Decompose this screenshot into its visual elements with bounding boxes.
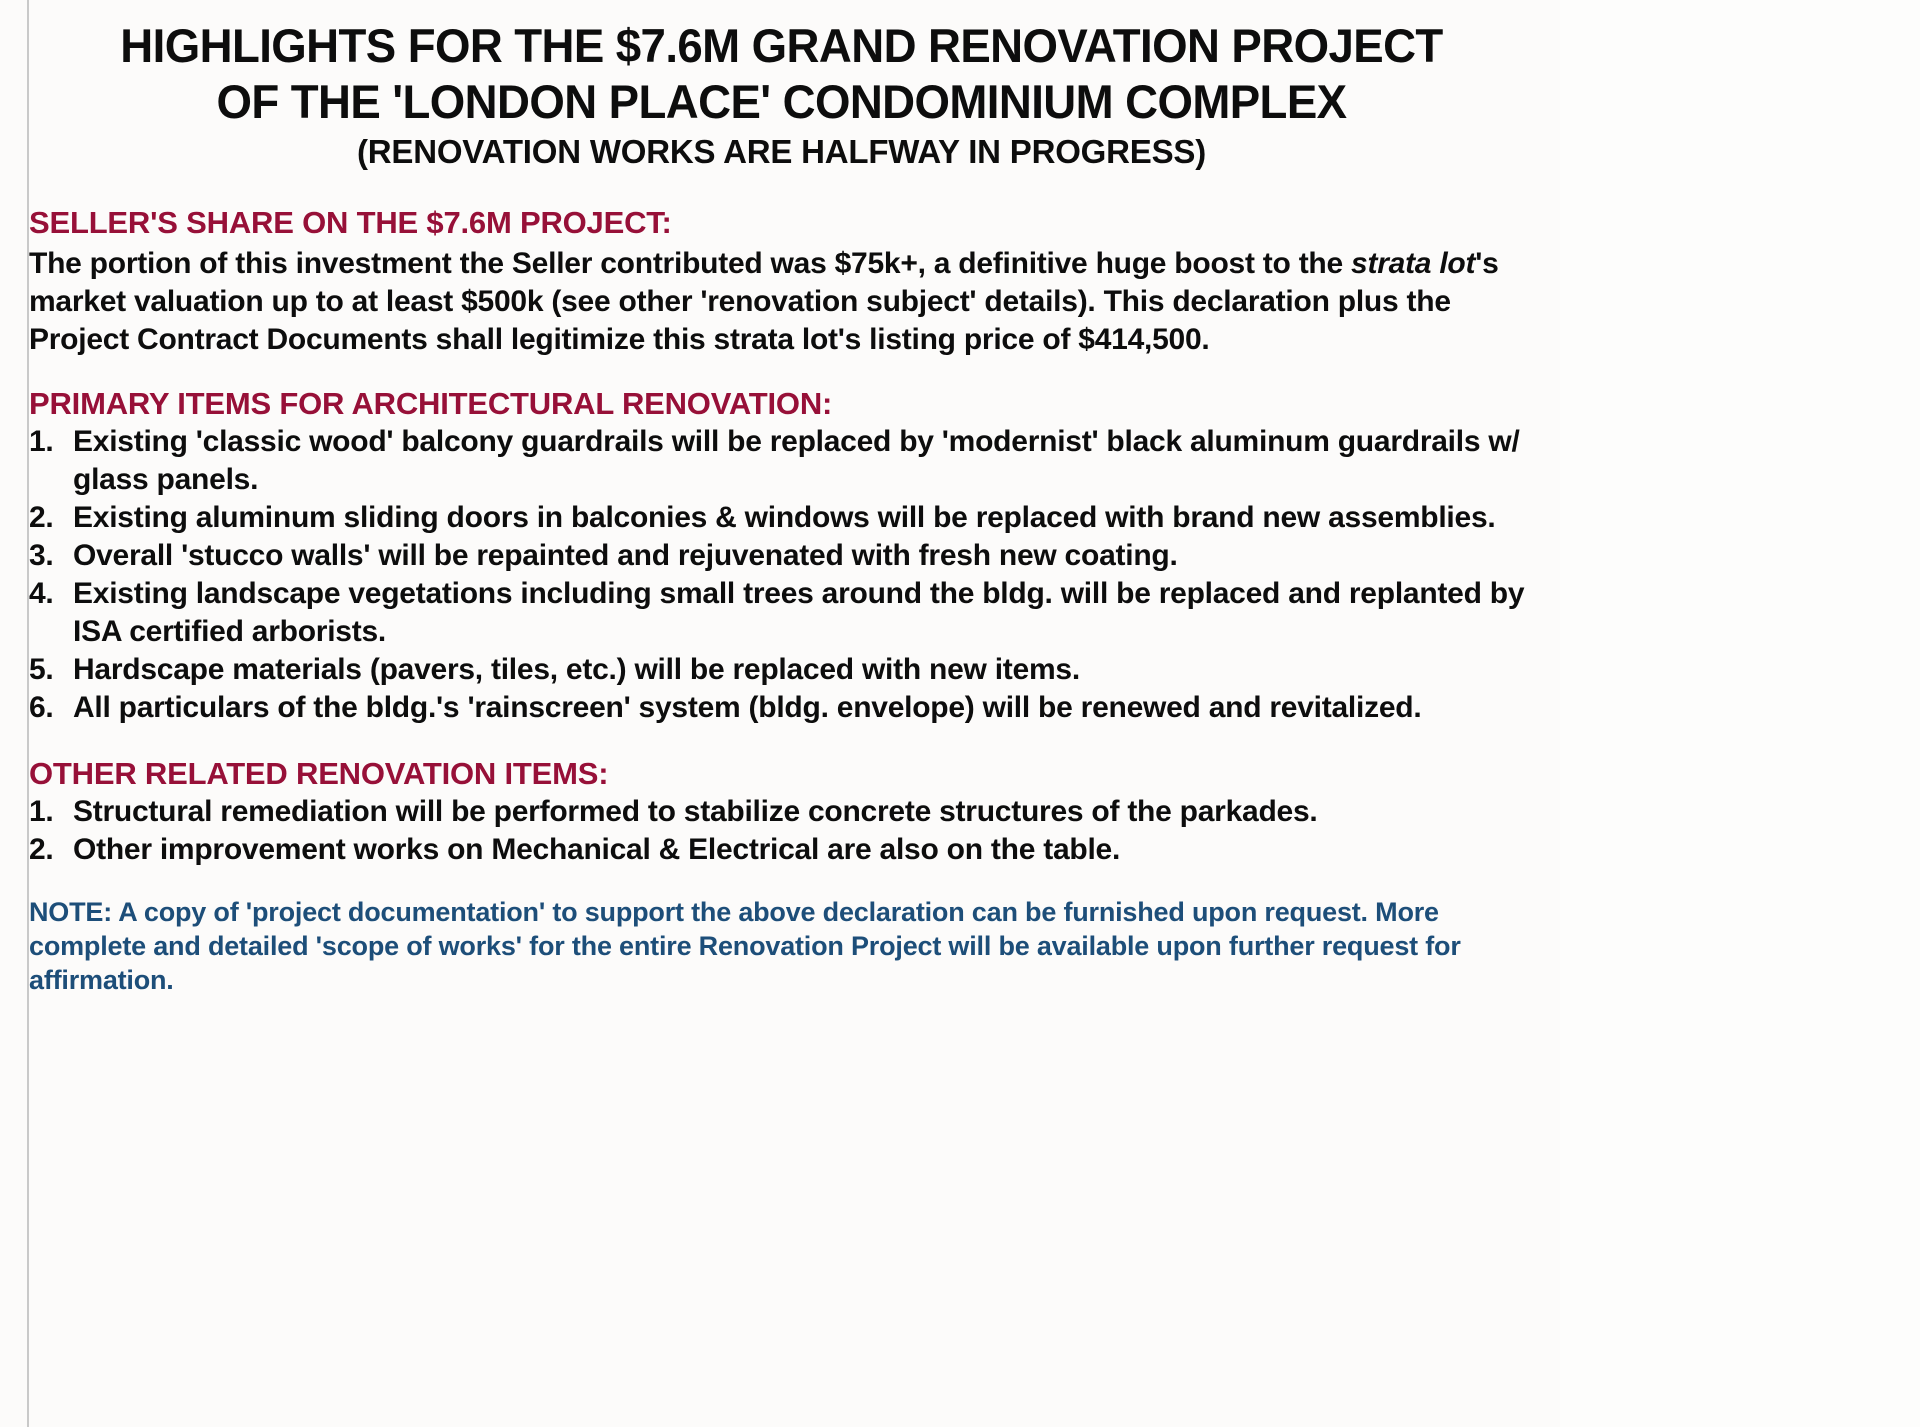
section-heading-primary-items: PRIMARY ITEMS FOR ARCHITECTURAL RENOVATI… xyxy=(29,385,1534,423)
list-item-text: Existing aluminum sliding doors in balco… xyxy=(73,501,1495,534)
list-item-number: 6. xyxy=(29,689,67,727)
list-item: 1.Existing 'classic wood' balcony guardr… xyxy=(29,423,1534,499)
list-item-number: 2. xyxy=(29,499,67,537)
list-item: 4.Existing landscape vegetations includi… xyxy=(29,575,1534,651)
list-item-text: Existing 'classic wood' balcony guardrai… xyxy=(73,425,1520,496)
list-item-number: 3. xyxy=(29,537,67,575)
page-title-line-1: HIGHLIGHTS FOR THE $7.6M GRAND RENOVATIO… xyxy=(52,18,1512,74)
list-item: 2.Existing aluminum sliding doors in bal… xyxy=(29,499,1534,537)
list-item-number: 4. xyxy=(29,575,67,613)
list-item: 3.Overall 'stucco walls' will be repaint… xyxy=(29,537,1534,575)
sellers-share-text-part1: The portion of this investment the Selle… xyxy=(29,247,1351,280)
primary-items-list: 1.Existing 'classic wood' balcony guardr… xyxy=(29,423,1534,727)
list-item-text: Structural remediation will be performed… xyxy=(73,795,1318,828)
list-item-text: Overall 'stucco walls' will be repainted… xyxy=(73,539,1178,572)
spacer xyxy=(29,174,1534,204)
list-item-text: All particulars of the bldg.'s 'rainscre… xyxy=(73,691,1421,724)
document-sheet: HIGHLIGHTS FOR THE $7.6M GRAND RENOVATIO… xyxy=(0,0,1560,1427)
other-items-list: 1.Structural remediation will be perform… xyxy=(29,793,1534,869)
list-item-number: 1. xyxy=(29,423,67,461)
list-item-text: Existing landscape vegetations including… xyxy=(73,577,1524,648)
list-item-number: 5. xyxy=(29,651,67,689)
list-item: 1.Structural remediation will be perform… xyxy=(29,793,1534,831)
page-title-line-2: OF THE 'LONDON PLACE' CONDOMINIUM COMPLE… xyxy=(52,74,1512,130)
footer-note: NOTE: A copy of 'project documentation' … xyxy=(29,895,1534,997)
sellers-share-paragraph: The portion of this investment the Selle… xyxy=(29,245,1534,359)
section-heading-other-items: OTHER RELATED RENOVATION ITEMS: xyxy=(29,755,1534,793)
list-item-number: 1. xyxy=(29,793,67,831)
document-content: HIGHLIGHTS FOR THE $7.6M GRAND RENOVATIO… xyxy=(29,0,1534,1427)
section-heading-sellers-share: SELLER'S SHARE ON THE $7.6M PROJECT: xyxy=(29,204,1534,242)
page-subtitle: (RENOVATION WORKS ARE HALFWAY IN PROGRES… xyxy=(29,130,1534,174)
list-item-number: 2. xyxy=(29,831,67,869)
list-item: 6.All particulars of the bldg.'s 'rainsc… xyxy=(29,689,1534,727)
list-item: 5.Hardscape materials (pavers, tiles, et… xyxy=(29,651,1534,689)
document-page: HIGHLIGHTS FOR THE $7.6M GRAND RENOVATIO… xyxy=(0,0,1920,1427)
sellers-share-text-italic: strata lot xyxy=(1351,247,1475,280)
list-item-text: Hardscape materials (pavers, tiles, etc.… xyxy=(73,653,1080,686)
list-item-text: Other improvement works on Mechanical & … xyxy=(73,833,1120,866)
list-item: 2.Other improvement works on Mechanical … xyxy=(29,831,1534,869)
document-title-block: HIGHLIGHTS FOR THE $7.6M GRAND RENOVATIO… xyxy=(29,0,1534,174)
